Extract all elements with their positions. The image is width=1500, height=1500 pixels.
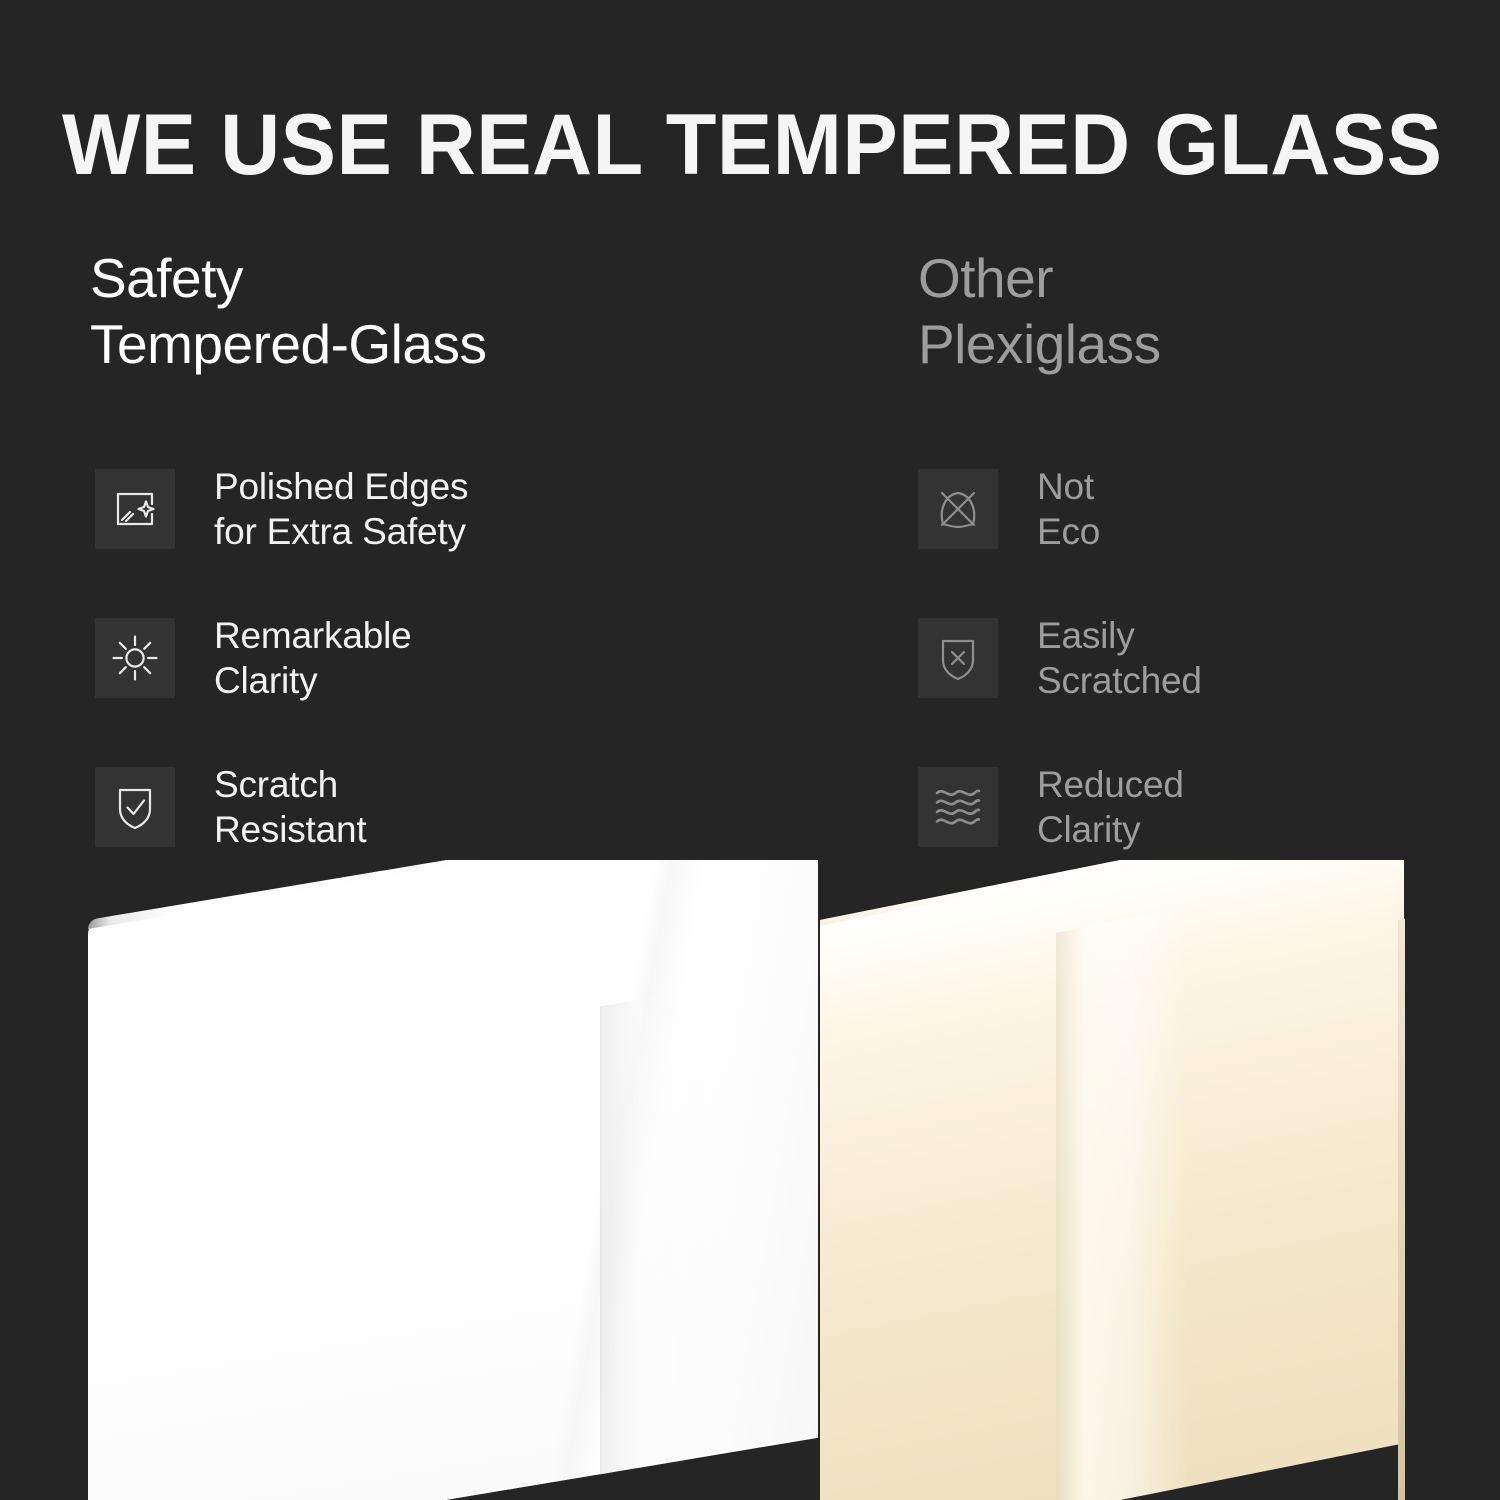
wavy-lines-icon: [918, 767, 998, 847]
feature-row: Polished Edges for Extra Safety: [95, 469, 855, 549]
feature-label: Reduced Clarity: [1037, 762, 1184, 852]
feature-label: Polished Edges for Extra Safety: [214, 464, 468, 554]
polished-edge-sparkle-icon: [95, 469, 175, 549]
tempered-glass-panel-image: [88, 860, 818, 1500]
plexiglass-panel-image: [820, 860, 1404, 1500]
column-title-tempered-glass: Safety Tempered-Glass: [90, 245, 850, 377]
leaf-crossed-out-icon: [918, 469, 998, 549]
comparison-column-tempered-glass: Safety Tempered-Glass Polished Edges for…: [90, 245, 850, 377]
feature-list-tempered-glass: Polished Edges for Extra Safety: [95, 469, 855, 847]
glass-panels-illustration: [0, 860, 1500, 1500]
feature-label: Not Eco: [1037, 464, 1100, 554]
infographic-canvas: WE USE REAL TEMPERED GLASS Safety Temper…: [0, 0, 1500, 1500]
shield-x-icon: [918, 618, 998, 698]
feature-row: Scratch Resistant: [95, 767, 855, 847]
feature-row: Easily Scratched: [918, 618, 1478, 698]
sun-brightness-icon: [95, 618, 175, 698]
shield-check-icon: [95, 767, 175, 847]
feature-label: Easily Scratched: [1037, 613, 1202, 703]
column-title-plexiglass: Other Plexiglass: [918, 245, 1478, 377]
feature-row: Not Eco: [918, 469, 1478, 549]
feature-row: Remarkable Clarity: [95, 618, 855, 698]
feature-label: Scratch Resistant: [214, 762, 366, 852]
comparison-column-plexiglass: Other Plexiglass Not Eco: [918, 245, 1478, 377]
feature-row: Reduced Clarity: [918, 767, 1478, 847]
feature-label: Remarkable Clarity: [214, 613, 411, 703]
feature-list-plexiglass: Not Eco Easily Scratched: [918, 469, 1478, 847]
page-title: WE USE REAL TEMPERED GLASS: [62, 99, 1403, 191]
plexiglass-panel-edge: [1398, 919, 1405, 1500]
